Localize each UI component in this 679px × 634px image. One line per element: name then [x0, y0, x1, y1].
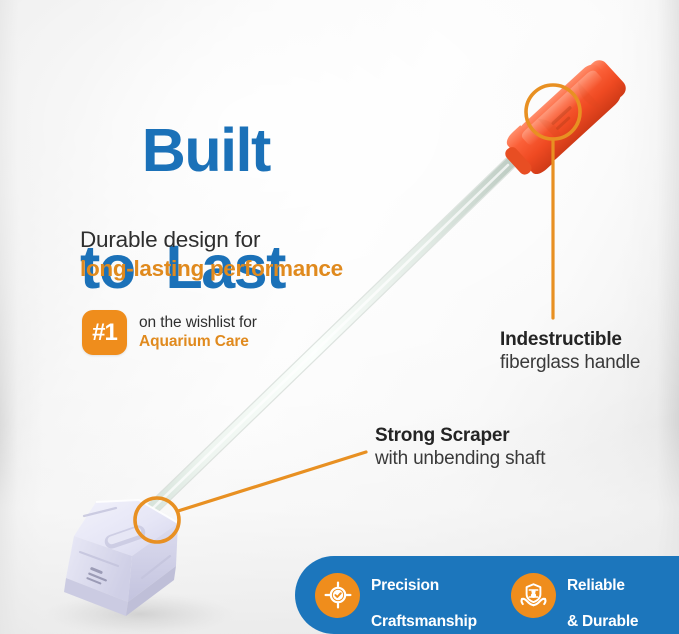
callout-scraper: Strong Scraper with unbending shaft [375, 424, 545, 470]
product-infographic: Built to Last Durable design for long-la… [0, 0, 679, 634]
target-check-icon [315, 573, 360, 618]
callout-scraper-title: Strong Scraper [375, 424, 545, 447]
rank-badge-text: on the wishlist for Aquarium Care [139, 314, 257, 351]
feature-item-precision-label: Precision Craftsmanship [371, 559, 477, 631]
headline-line-1: Built [142, 116, 270, 184]
subheadline-line-1: Durable design for [80, 227, 260, 253]
circle-marker-scraper [135, 452, 366, 542]
rank-badge-number: #1 [82, 310, 127, 355]
callout-handle: Indestructible fiberglass handle [500, 328, 640, 374]
shield-in-hands-icon [511, 573, 556, 618]
rank-badge-line-1: on the wishlist for [139, 314, 257, 333]
feature-precision-line-1: Precision [371, 577, 439, 594]
circle-marker-handle [526, 85, 580, 318]
feature-item-reliable-label: Reliable & Durable [567, 559, 638, 631]
feature-reliable-line-2: & Durable [567, 613, 638, 630]
subheadline-line-2: long-lasting performance [80, 256, 343, 282]
orange-handle-grip [497, 54, 632, 183]
feature-banner: Precision Craftsmanship [295, 556, 679, 634]
product-shadow [44, 592, 236, 634]
rank-badge-line-2: Aquarium Care [139, 333, 257, 352]
feature-precision-line-2: Craftsmanship [371, 613, 477, 630]
callout-handle-subtitle: fiberglass handle [500, 351, 640, 374]
rank-badge: #1 on the wishlist for Aquarium Care [82, 310, 257, 355]
scraper-head [64, 500, 178, 616]
feature-item-reliable: Reliable & Durable [511, 559, 638, 631]
feature-item-precision: Precision Craftsmanship [315, 559, 477, 631]
feature-reliable-line-1: Reliable [567, 577, 625, 594]
callout-handle-title: Indestructible [500, 328, 640, 351]
callout-scraper-subtitle: with unbending shaft [375, 447, 545, 470]
